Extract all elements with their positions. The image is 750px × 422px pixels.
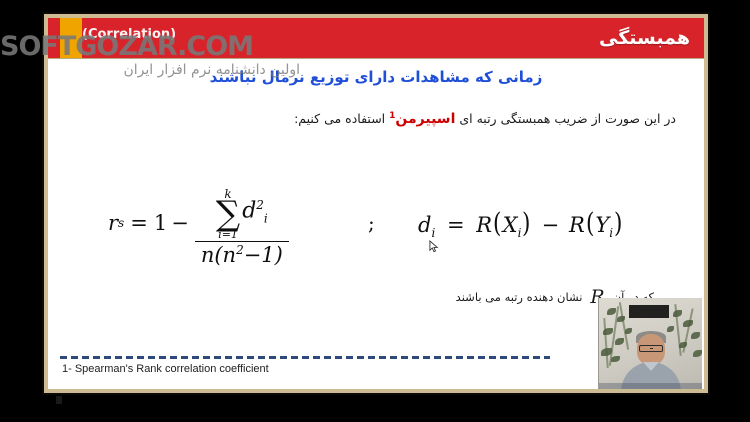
sentence-lead: در این صورت از ضریب همبستگی رتبه ای <box>459 111 676 126</box>
d-var: d <box>418 213 431 237</box>
formula-separator: ; <box>368 211 375 235</box>
formula-equals: = <box>130 211 148 235</box>
mouse-cursor-icon <box>429 240 440 253</box>
summation: k ∑ i=1 d2i <box>216 188 268 240</box>
header-accent-block <box>60 18 82 58</box>
denominator-tail: −1) <box>244 243 283 267</box>
sum-lower-limit: i=1 <box>218 229 238 240</box>
x-var: X <box>503 213 518 237</box>
header-subtitle: (Correlation) <box>82 27 176 42</box>
header-title: همبستگی <box>599 24 690 52</box>
video-bottom-bar <box>599 383 702 389</box>
header-rule <box>48 58 704 59</box>
x-sub: i <box>518 226 522 240</box>
paren-open-1: ( <box>493 208 501 239</box>
slide-header-bar: (Correlation) همبستگی <box>48 18 704 58</box>
d-equals: = <box>447 213 465 237</box>
formula-fraction: k ∑ i=1 d2i n(n2−1) <box>195 178 289 268</box>
presentation-slide: (Correlation) همبستگی زمانی که مشاهدات د… <box>48 18 704 389</box>
d-minus: − <box>542 213 560 237</box>
sentence-emphasis: اسپیرمن <box>395 111 455 127</box>
video-wall-panel <box>629 305 669 318</box>
sigma-icon: k ∑ i=1 <box>216 188 240 240</box>
formula-difference: di = R(Xi) − R(Yi) <box>418 208 624 240</box>
formula-spearman: rs = 1 − k ∑ i=1 d2i n(n2−1 <box>108 178 291 268</box>
footnote-text: 1- Spearman's Rank correlation coefficie… <box>62 363 269 375</box>
rank-func-2: R <box>569 213 585 237</box>
presenter-video-overlay[interactable] <box>598 298 702 389</box>
formula-one: 1 <box>154 211 167 235</box>
presenter-glasses-icon <box>639 345 663 352</box>
sigma-glyph: ∑ <box>216 200 240 229</box>
paren-close-1: ) <box>522 208 530 239</box>
operand-var: d <box>242 198 256 223</box>
paren-open-2: ( <box>586 208 594 239</box>
slide-heading: زمانی که مشاهدات دارای توزیع نرمال نباشن… <box>48 68 704 86</box>
operand-sub: i <box>264 212 268 226</box>
slide-sentence: در این صورت از ضریب همبستگی رتبه ای اسپی… <box>294 111 676 127</box>
operand-sup: 2 <box>256 198 264 212</box>
fraction-denominator: n(n2−1) <box>195 242 289 268</box>
note-tail: نشان دهنده رتبه می باشند <box>456 290 583 304</box>
sentence-tail: استفاده می کنیم: <box>294 111 385 126</box>
rank-func-1: R <box>476 213 492 237</box>
screen-capture: (Correlation) همبستگی زمانی که مشاهدات د… <box>0 0 750 422</box>
footnote-divider <box>60 356 550 359</box>
paren-close-2: ) <box>614 208 622 239</box>
y-sub: i <box>609 226 613 240</box>
denominator-head: n(n <box>201 243 236 267</box>
y-var: Y <box>595 213 609 237</box>
sum-operand: d2i <box>242 198 268 226</box>
formula-lhs-sub: s <box>118 216 124 230</box>
fraction-numerator: k ∑ i=1 d2i <box>210 178 274 241</box>
formula-minus: − <box>171 211 189 235</box>
denominator-sup: 2 <box>236 243 244 257</box>
frame-corner-mark <box>56 396 62 404</box>
formula-lhs-var: r <box>108 211 118 235</box>
d-sub: i <box>431 226 435 240</box>
